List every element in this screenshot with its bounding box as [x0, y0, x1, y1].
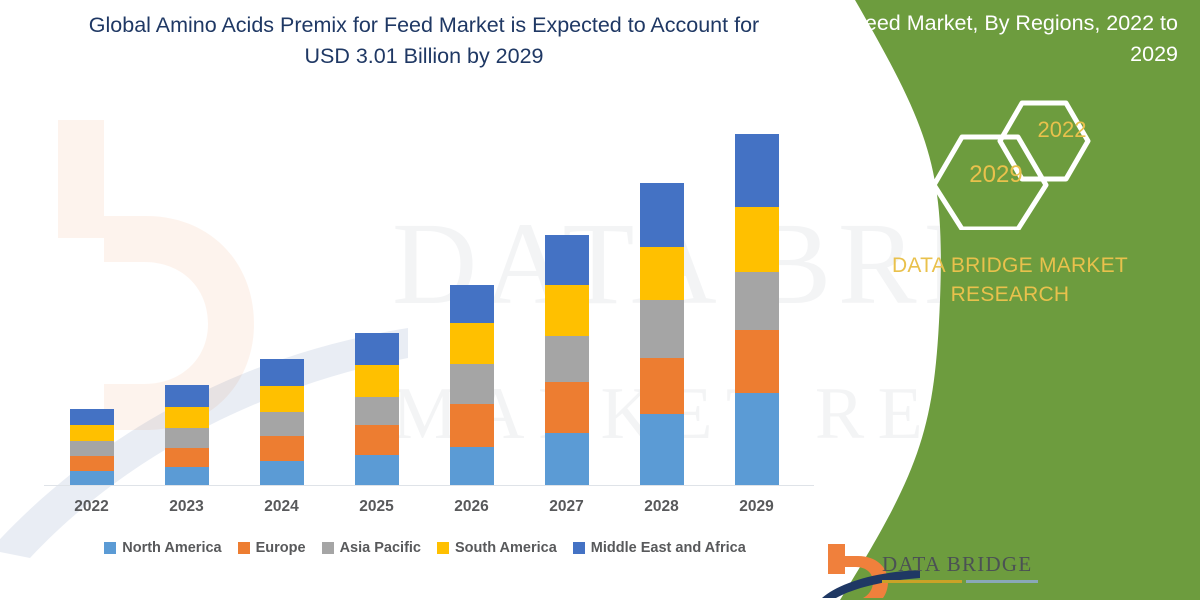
legend-swatch-icon	[322, 542, 334, 554]
stacked-bar[interactable]	[355, 333, 399, 485]
stacked-bar[interactable]	[450, 285, 494, 485]
bar-column-2025	[332, 120, 422, 485]
bar-segment[interactable]	[70, 409, 114, 425]
panel-title: Feed Market, By Regions, 2022 to 2029	[828, 8, 1178, 69]
bar-segment[interactable]	[545, 433, 589, 485]
legend-item[interactable]: Europe	[238, 540, 306, 556]
stacked-bar[interactable]	[545, 235, 589, 485]
bar-segment[interactable]	[260, 386, 304, 412]
bar-segment[interactable]	[355, 333, 399, 365]
legend-swatch-icon	[104, 542, 116, 554]
legend-item[interactable]: Middle East and Africa	[573, 540, 746, 556]
bar-column-2028	[617, 120, 707, 485]
x-axis-label-2023: 2023	[142, 498, 232, 516]
legend-swatch-icon	[573, 542, 585, 554]
bar-segment[interactable]	[165, 448, 209, 467]
bar-segment[interactable]	[640, 414, 684, 485]
x-axis-label-2025: 2025	[332, 498, 422, 516]
legend-item[interactable]: South America	[437, 540, 557, 556]
bar-segment[interactable]	[70, 425, 114, 441]
bar-segment[interactable]	[450, 285, 494, 323]
bar-segment[interactable]	[165, 407, 209, 428]
legend-label: Asia Pacific	[340, 540, 421, 556]
stacked-bar[interactable]	[70, 409, 114, 485]
x-axis-label-2027: 2027	[522, 498, 612, 516]
legend-item[interactable]: North America	[104, 540, 221, 556]
bar-segment[interactable]	[165, 428, 209, 448]
stacked-bar[interactable]	[640, 183, 684, 485]
legend-label: Middle East and Africa	[591, 540, 746, 556]
bar-segment[interactable]	[640, 358, 684, 414]
bar-segment[interactable]	[260, 359, 304, 386]
chart-legend: North AmericaEuropeAsia PacificSouth Ame…	[44, 540, 806, 556]
bar-segment[interactable]	[640, 247, 684, 300]
legend-swatch-icon	[437, 542, 449, 554]
bar-segment[interactable]	[70, 441, 114, 456]
bar-segment[interactable]	[450, 447, 494, 485]
legend-swatch-icon	[238, 542, 250, 554]
hexagon-2022-label: 2022	[1020, 117, 1104, 143]
bar-segment[interactable]	[640, 183, 684, 247]
bar-segment[interactable]	[735, 393, 779, 485]
bar-segment[interactable]	[260, 436, 304, 461]
x-axis-line	[44, 485, 814, 486]
bar-segment[interactable]	[450, 323, 494, 364]
bar-column-2027	[522, 120, 612, 485]
bar-segment[interactable]	[260, 461, 304, 485]
bar-segment[interactable]	[450, 404, 494, 447]
stacked-bar[interactable]	[165, 385, 209, 485]
bar-segment[interactable]	[545, 382, 589, 433]
bar-segment[interactable]	[735, 207, 779, 272]
brand-name: DATA BRIDGE MARKET RESEARCH	[840, 252, 1180, 310]
x-axis-label-2028: 2028	[617, 498, 707, 516]
bar-column-2026	[427, 120, 517, 485]
bar-segment[interactable]	[735, 272, 779, 330]
legend-label: Europe	[256, 540, 306, 556]
chart-bars-container	[44, 120, 804, 485]
bar-segment[interactable]	[735, 134, 779, 207]
hexagon-2029-label: 2029	[948, 161, 1044, 189]
x-axis-label-2022: 2022	[47, 498, 137, 516]
infographic-root: DATA BRIDGE MARKET RESEARCH Global Amino…	[0, 0, 1200, 600]
bar-segment[interactable]	[165, 385, 209, 407]
legend-item[interactable]: Asia Pacific	[322, 540, 421, 556]
bar-column-2022	[47, 120, 137, 485]
bar-segment[interactable]	[260, 412, 304, 436]
bar-column-2023	[142, 120, 232, 485]
bar-segment[interactable]	[355, 455, 399, 485]
stacked-bar[interactable]	[735, 134, 779, 485]
bar-segment[interactable]	[545, 235, 589, 285]
bar-segment[interactable]	[355, 397, 399, 425]
x-axis-label-2029: 2029	[712, 498, 802, 516]
bar-segment[interactable]	[545, 285, 589, 336]
bar-segment[interactable]	[70, 471, 114, 485]
bar-segment[interactable]	[355, 425, 399, 455]
bar-segment[interactable]	[640, 300, 684, 358]
data-bridge-logo: DATA BRIDGE	[820, 542, 1070, 598]
bar-segment[interactable]	[165, 467, 209, 485]
x-axis-label-2024: 2024	[237, 498, 327, 516]
bar-segment[interactable]	[735, 330, 779, 393]
bar-column-2029	[712, 120, 802, 485]
bar-segment[interactable]	[355, 365, 399, 397]
bar-segment[interactable]	[70, 456, 114, 471]
logo-text: DATA BRIDGE	[882, 552, 1032, 577]
x-axis-label-2026: 2026	[427, 498, 517, 516]
bar-segment[interactable]	[545, 336, 589, 382]
legend-label: South America	[455, 540, 557, 556]
page-title: Global Amino Acids Premix for Feed Marke…	[64, 10, 784, 72]
bar-segment[interactable]	[450, 364, 494, 404]
hexagon-group: 2022 2029	[926, 95, 1116, 230]
legend-label: North America	[122, 540, 221, 556]
bar-column-2024	[237, 120, 327, 485]
stacked-bar[interactable]	[260, 359, 304, 485]
x-axis-labels: 20222023202420252026202720282029	[44, 498, 804, 516]
